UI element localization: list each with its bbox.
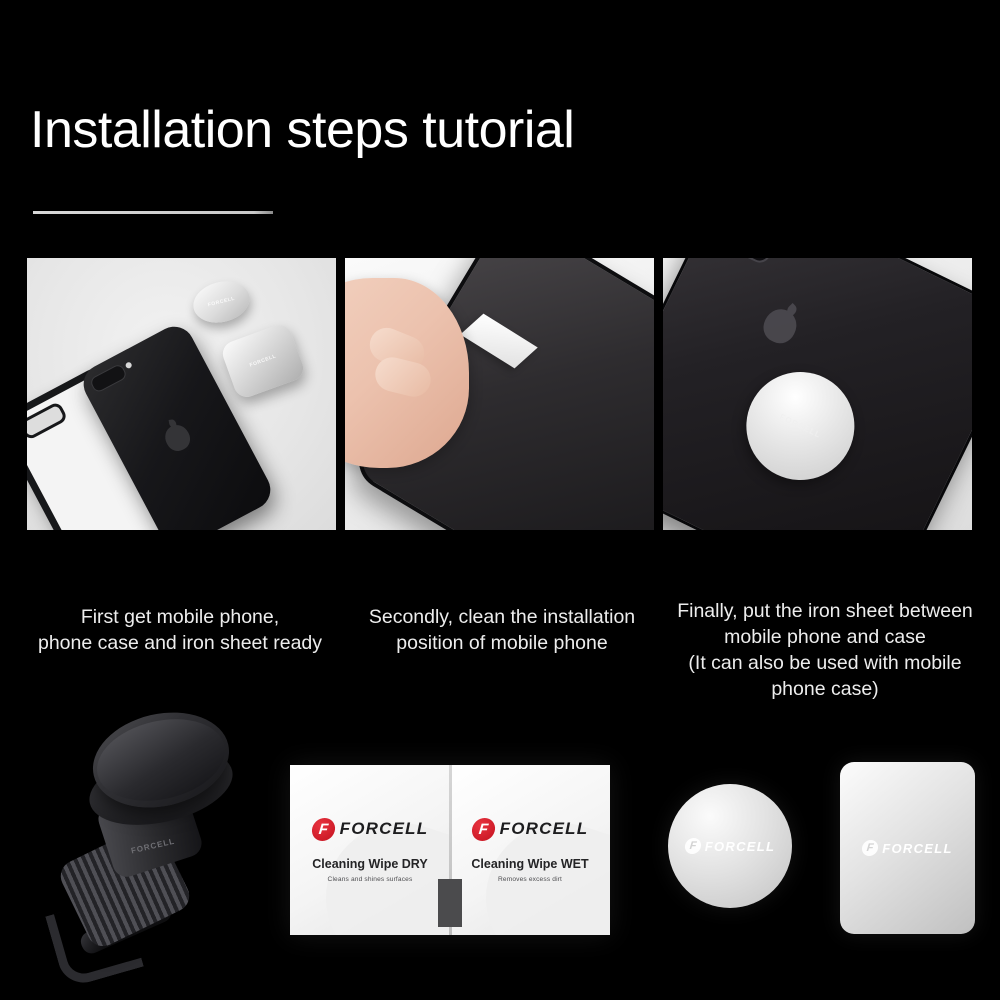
rect-plate-brand: FORCELL <box>249 353 277 368</box>
forcell-badge-icon <box>684 838 702 854</box>
round-iron-plate-product: FORCELL <box>668 784 792 908</box>
forcell-logo: FORCELL <box>685 838 775 854</box>
forcell-wordmark: FORCELL <box>705 839 775 854</box>
apple-logo-icon <box>758 304 802 349</box>
sachet-tear-tab <box>438 879 462 927</box>
step-3-caption: Finally, put the iron sheet between mobi… <box>660 598 990 702</box>
black-phone-back: FORCELL <box>663 258 972 530</box>
step-1-photo: FORCELL FORCELL <box>27 258 336 530</box>
step-2-photo <box>345 258 654 530</box>
step-1-caption: First get mobile phone, phone case and i… <box>18 604 342 656</box>
camera-module-icon <box>722 258 777 266</box>
forcell-wordmark: FORCELL <box>500 819 589 839</box>
finger <box>372 354 435 401</box>
forcell-wordmark: FORCELL <box>882 841 952 856</box>
step-3-photo: FORCELL <box>663 258 972 530</box>
round-iron-sheet-attached: FORCELL <box>728 354 872 498</box>
forcell-badge-icon <box>861 840 879 856</box>
wipe-dry-subtitle: Cleans and shines surfaces <box>312 876 429 883</box>
title-underline-divider <box>33 211 273 214</box>
forcell-logo: FORCELL <box>471 818 588 841</box>
wipe-dry-title: Cleaning Wipe DRY <box>312 857 429 871</box>
forcell-wordmark: FORCELL <box>340 819 429 839</box>
attached-plate-brand: FORCELL <box>778 412 822 440</box>
magnetic-car-mount-product: FORCELL <box>48 700 258 980</box>
apple-logo-icon <box>161 421 194 455</box>
page-title: Installation steps tutorial <box>30 104 574 156</box>
rectangular-iron-plate-product: FORCELL <box>840 762 975 934</box>
forcell-logo: FORCELL <box>312 818 429 841</box>
forcell-badge-icon <box>310 818 335 841</box>
step-2-caption: Secondly, clean the installation positio… <box>350 604 654 656</box>
cleaning-wipe-wet-sachet: FORCELL Cleaning Wipe WET Removes excess… <box>450 765 610 935</box>
camera-module-icon <box>89 363 128 394</box>
cleaning-wipes-pack: FORCELL Cleaning Wipe DRY Cleans and shi… <box>290 765 610 935</box>
flash-icon <box>125 361 133 369</box>
round-plate-brand: FORCELL <box>207 296 235 309</box>
wipe-wet-title: Cleaning Wipe WET <box>471 857 588 871</box>
cleaning-wipe-dry-sachet: FORCELL Cleaning Wipe DRY Cleans and shi… <box>290 765 450 935</box>
forcell-logo: FORCELL <box>862 840 952 856</box>
forcell-badge-icon <box>470 818 495 841</box>
tutorial-photo-strip: FORCELL FORCELL FORCELL <box>27 258 972 530</box>
wipe-wet-subtitle: Removes excess dirt <box>471 876 588 883</box>
